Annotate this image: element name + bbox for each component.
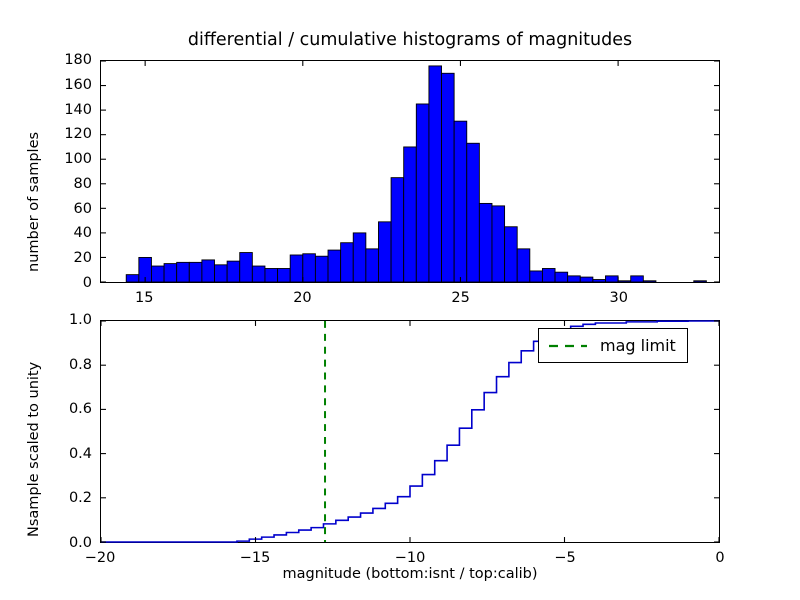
histogram-bar	[151, 266, 164, 282]
y-tick-label: 120	[38, 126, 92, 142]
differential-histogram-plot	[101, 61, 719, 282]
x-tick-label: 30	[610, 290, 628, 306]
histogram-bar	[643, 281, 656, 282]
histogram-bar	[391, 178, 404, 282]
y-tick-label: 1.0	[38, 312, 92, 328]
histogram-bar	[227, 261, 240, 282]
histogram-bar	[315, 256, 328, 282]
histogram-bar	[303, 254, 316, 282]
x-tick-label: −20	[85, 550, 116, 566]
histogram-bar	[126, 275, 139, 282]
y-tick-label: 60	[38, 201, 92, 217]
histogram-bar	[580, 277, 593, 282]
histogram-bar	[442, 73, 455, 282]
histogram-bar	[694, 281, 707, 282]
histogram-bar	[164, 264, 177, 282]
y-tick-label: 80	[38, 176, 92, 192]
top-panel-y-axis-label: number of samples	[26, 132, 42, 272]
histogram-bar	[290, 255, 303, 282]
bottom-panel-x-axis-label: magnitude (bottom:isnt / top:calib)	[100, 566, 720, 582]
y-tick-label: 0.4	[38, 446, 92, 462]
histogram-bar	[505, 227, 518, 282]
y-tick-label: 0.0	[38, 535, 92, 551]
x-tick-label: 15	[135, 290, 153, 306]
y-tick-label: 40	[38, 225, 92, 241]
histogram-bar	[278, 268, 291, 282]
bottom-panel-y-axis-label: Nsample scaled to unity	[26, 362, 42, 537]
histogram-bar	[177, 262, 190, 282]
histogram-bar	[353, 233, 366, 282]
histogram-bar	[265, 268, 278, 282]
y-tick-label: 20	[38, 250, 92, 266]
legend: mag limit	[538, 328, 688, 363]
y-tick-label: 0.2	[38, 490, 92, 506]
histogram-bar	[328, 250, 341, 282]
y-tick-label: 0.6	[38, 401, 92, 417]
histogram-bar	[530, 271, 543, 282]
histogram-bar	[252, 266, 265, 282]
mag-limit-dashed-line-icon	[548, 339, 588, 353]
x-tick-label: 25	[451, 290, 469, 306]
histogram-bar	[492, 206, 505, 282]
histogram-bar	[416, 104, 429, 282]
histogram-bar	[555, 272, 568, 282]
histogram-bar	[631, 276, 644, 282]
x-tick-label: 0	[715, 550, 724, 566]
histogram-bar	[366, 249, 379, 282]
histogram-bar	[240, 253, 253, 282]
page-title: differential / cumulative histograms of …	[100, 30, 720, 50]
histogram-bar	[542, 268, 555, 282]
y-tick-label: 100	[38, 151, 92, 167]
y-tick-label: 0	[38, 275, 92, 291]
histogram-bar	[618, 281, 631, 282]
histogram-bar	[215, 265, 228, 282]
histogram-bar	[454, 121, 467, 282]
legend-label-mag-limit: mag limit	[600, 336, 676, 355]
histogram-bar	[378, 222, 391, 282]
histogram-bar	[202, 260, 215, 282]
histogram-bar	[479, 203, 492, 282]
y-tick-label: 160	[38, 77, 92, 93]
y-tick-label: 0.8	[38, 357, 92, 373]
histogram-bar	[605, 276, 618, 282]
x-tick-label: 20	[293, 290, 311, 306]
x-tick-label: −5	[554, 550, 575, 566]
histogram-bar	[341, 243, 354, 282]
histogram-bar	[517, 249, 530, 282]
y-tick-label: 180	[38, 52, 92, 68]
x-tick-label: −10	[395, 550, 426, 566]
top-panel-axes	[100, 60, 720, 283]
histogram-bar	[593, 280, 606, 282]
x-tick-label: −15	[240, 550, 271, 566]
histogram-bar	[429, 66, 442, 282]
histogram-bar	[404, 147, 417, 282]
figure-canvas: differential / cumulative histograms of …	[0, 0, 800, 600]
histogram-bar	[467, 143, 480, 282]
histogram-bar	[189, 262, 202, 282]
histogram-bar	[568, 276, 581, 282]
y-tick-label: 140	[38, 102, 92, 118]
